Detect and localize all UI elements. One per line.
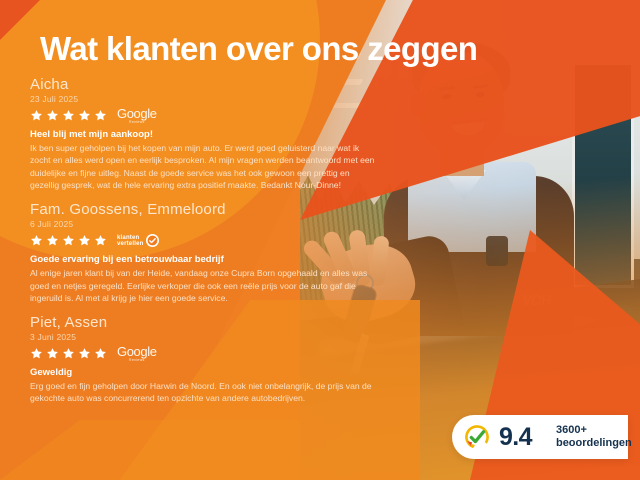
star-icon [62,347,75,360]
star-rating [30,347,107,360]
checkmark-icon [146,234,159,247]
rating-label: beoordelingen [556,437,632,450]
review-item: Fam. Goossens, Emmeloord 6 Juli 2025 kla… [30,201,410,304]
review-meta: klanten vertellen [30,232,410,249]
rating-score: 9.4 [499,423,532,452]
reviewer-name: Piet, Assen [30,314,410,331]
klantenvertellen-wordmark: klanten vertellen [117,235,143,248]
star-icon [94,234,107,247]
star-icon [46,347,59,360]
star-rating [30,109,107,122]
google-reviews-label: Reviews [129,359,145,363]
review-date: 6 Juli 2025 [30,219,410,229]
star-icon [78,234,91,247]
review-title: Geweldig [30,367,410,378]
star-icon [46,109,59,122]
rating-badge[interactable]: 9.4 3600+ beoordelingen [452,415,628,459]
star-icon [62,234,75,247]
reviewer-name: Aicha [30,76,410,93]
review-meta: Google Reviews [30,345,410,362]
review-date: 3 Juni 2025 [30,332,410,342]
star-icon [78,347,91,360]
star-icon [46,234,59,247]
google-wordmark: Google [117,107,157,120]
google-wordmark: Google [117,345,157,358]
review-body: Al enige jaren klant bij van der Heide, … [30,267,380,304]
page-title: Wat klanten over ons zeggen [40,30,477,68]
star-icon [30,109,43,122]
review-body: Erg goed en fijn geholpen door Harwin de… [30,380,380,404]
star-icon [30,234,43,247]
star-icon [94,109,107,122]
review-meta: Google Reviews [30,107,410,124]
review-list: Aicha 23 Juli 2025 Google Reviews [30,76,410,415]
review-title: Goede ervaring bij een betrouwbaar bedri… [30,254,410,265]
star-icon [62,109,75,122]
google-logo: Google Reviews [117,107,157,125]
review-item: Aicha 23 Juli 2025 Google Reviews [30,76,410,191]
review-body: Ik ben super geholpen bij het kopen van … [30,142,380,191]
review-item: Piet, Assen 3 Juni 2025 Google Reviews [30,314,410,405]
kiyoh-checkmark-icon [464,424,490,450]
google-logo: Google Reviews [117,345,157,363]
star-icon [30,347,43,360]
star-icon [78,109,91,122]
klantenvertellen-logo: klanten vertellen [117,234,159,247]
star-rating [30,234,107,247]
review-banner: VDH Wat klanten over ons zeggen Aicha 23… [0,0,640,480]
review-date: 23 Juli 2025 [30,94,410,104]
google-reviews-label: Reviews [129,121,145,125]
rating-count-block: 3600+ beoordelingen [556,424,632,450]
reviewer-name: Fam. Goossens, Emmeloord [30,201,410,218]
banner-content: Wat klanten over ons zeggen Aicha 23 Jul… [0,0,640,480]
star-icon [94,347,107,360]
kv-line-2: vertellen [117,241,143,247]
rating-count: 3600+ [556,424,632,437]
review-title: Heel blij met mijn aankoop! [30,129,410,140]
